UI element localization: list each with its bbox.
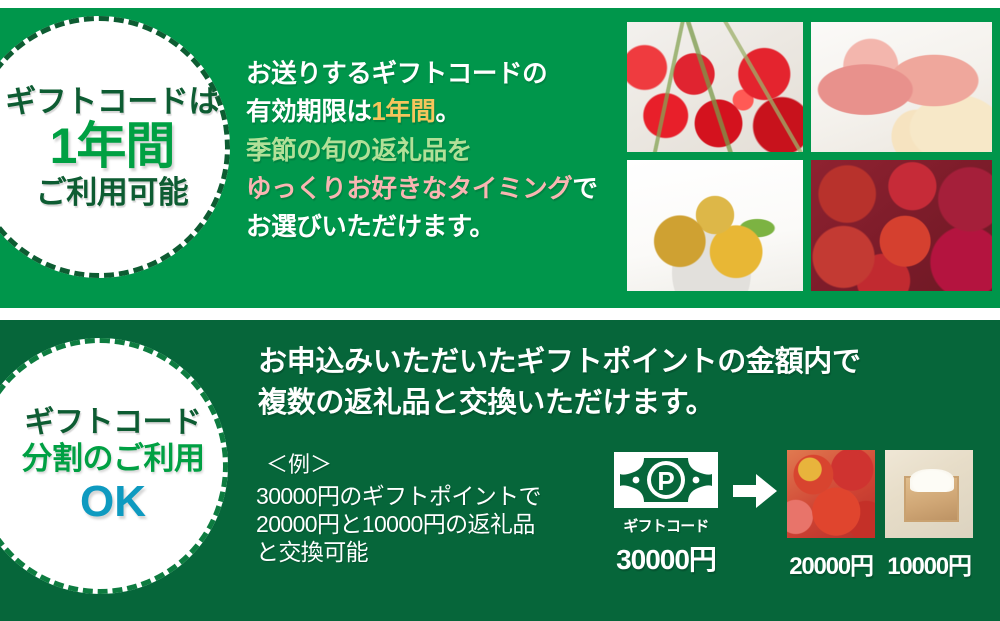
copy-line-1-text: お送りするギフトコードの — [246, 60, 547, 88]
gift-code-amount-group: P ギフトコード 30000円 — [604, 452, 728, 578]
badge-line-ok: OK — [0, 478, 228, 526]
example-line-3: と交換可能 — [256, 538, 586, 566]
example-body: 30000円のギフトポイントで 20000円と10000円の返礼品 と交換可能 — [256, 482, 586, 566]
arrow-right-icon — [733, 474, 777, 508]
reward-amount: 10000円 — [885, 546, 973, 581]
badge-line-usable: ご利用可能 — [0, 176, 230, 209]
copy-line-5-text: お選びいただけます。 — [246, 213, 494, 241]
copy-line-1: お送りするギフトコードの — [246, 55, 616, 93]
pears-photo — [627, 160, 803, 291]
gift-code-caption: ギフトコード — [604, 515, 728, 536]
bottom-headline-line-1: お申込みいただいたギフトポイントの金額内で — [258, 342, 988, 383]
reward-items-group: 20000円 10000円 — [787, 450, 973, 581]
example-block: ＜例＞ 30000円のギフトポイントで 20000円と10000円の返礼品 と交… — [256, 452, 586, 567]
reward-item: 10000円 — [885, 450, 973, 581]
badge-bottom-text-group: ギフトコード 分割のご利用 OK — [0, 407, 228, 525]
apple-reward-photo — [787, 450, 875, 538]
bottom-headline-text: お申込みいただいたギフトポイントの金額内で 複数の返礼品と交換いただけます。 — [258, 342, 988, 423]
badge-line-gift-code: ギフトコード — [0, 407, 228, 439]
banknote-icon: P — [614, 452, 718, 508]
example-line-1: 30000円のギフトポイントで — [256, 482, 586, 510]
svg-text:P: P — [657, 466, 674, 496]
bottom-headline-line-2: 複数の返礼品と交換いただけます。 — [258, 383, 988, 424]
copy-line-2-highlight: 1年間 — [372, 98, 436, 126]
copy-line-2-prefix: 有効期限は — [246, 98, 372, 126]
badge-line-split-usage: 分割のご利用 — [0, 442, 228, 475]
badge-line-one-year: 1年間 — [0, 120, 230, 173]
copy-line-4: ゆっくりお好きなタイミングで — [246, 170, 616, 208]
top-copy-text: お送りするギフトコードの 有効期限は1年間。 季節の旬の返礼品を ゆっくりお好き… — [246, 55, 616, 246]
reward-amount: 20000円 — [787, 546, 875, 581]
copy-line-3: 季節の旬の返礼品を — [246, 132, 616, 170]
copy-line-5: お選びいただけます。 — [246, 208, 616, 246]
gift-code-amount: 30000円 — [604, 538, 728, 578]
example-line-2: 20000円と10000円の返礼品 — [256, 510, 586, 538]
badge-line-gift-code-is: ギフトコードは — [0, 85, 230, 118]
copy-line-3-text: 季節の旬の返礼品を — [246, 137, 472, 165]
copy-line-2: 有効期限は1年間。 — [246, 93, 616, 131]
copy-line-4-highlight: ゆっくりお好きなタイミング — [246, 175, 572, 203]
peaches-photo — [811, 22, 992, 152]
cherries-photo — [627, 22, 803, 152]
copy-line-4-suffix: で — [572, 175, 597, 203]
example-label: ＜例＞ — [256, 452, 586, 478]
fruit-photo-grid — [627, 22, 992, 299]
badge-text-group: ギフトコードは 1年間 ご利用可能 — [0, 85, 230, 210]
reward-item: 20000円 — [787, 450, 875, 581]
apples-photo — [811, 160, 992, 291]
copy-line-2-suffix: 。 — [436, 98, 461, 126]
rice-reward-photo — [885, 450, 973, 538]
promo-banner: ギフトコードは 1年間 ご利用可能 お送りするギフトコードの 有効期限は1年間。… — [0, 0, 1000, 621]
